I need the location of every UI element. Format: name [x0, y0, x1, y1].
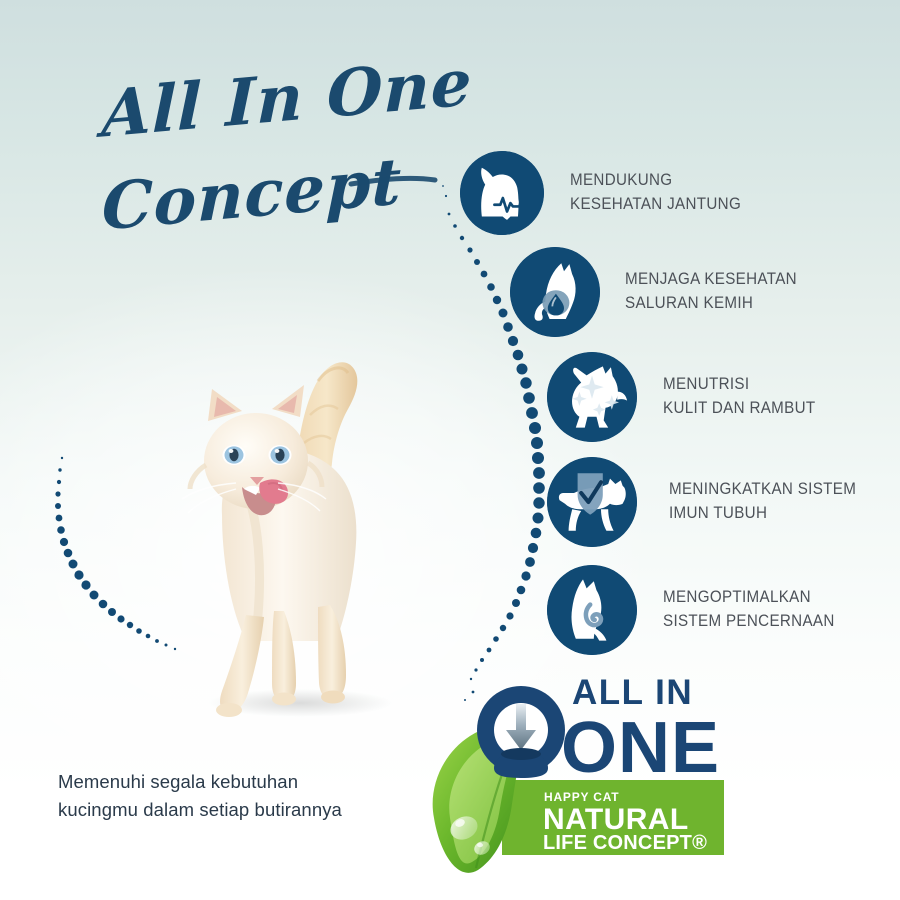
logo-all-in-text: ALL IN: [572, 673, 693, 712]
logo-one-text: ONE: [561, 708, 720, 788]
caption-line-2: kucingmu dalam setiap butirannya: [58, 796, 342, 824]
logo-life-concept-text: LIFE CONCEPT®: [543, 832, 707, 854]
poster-root: All In One Concept MENDUKUNG KESEHATAN J…: [0, 0, 900, 900]
benefit-line-1: MENINGKATKAN SISTEM: [669, 478, 856, 502]
benefit-row-heart-health: MENDUKUNG KESEHATAN JANTUNG: [460, 151, 756, 235]
benefit-row-skin-coat: MENUTRISI KULIT DAN RAMBUT: [547, 352, 829, 442]
cat-sparkles-coat-icon: [547, 352, 637, 442]
caption: Memenuhi segala kebutuhan kucingmu dalam…: [58, 768, 342, 824]
cat-sitting-water-drop-icon: [510, 247, 600, 337]
benefit-line-2: IMUN TUBUH: [669, 502, 856, 526]
cat-heart-ecg-icon: [460, 151, 544, 235]
benefit-line-1: MENUTRISI: [663, 373, 815, 397]
benefit-line-2: SISTEM PENCERNAAN: [663, 610, 835, 634]
benefit-line-1: MENDUKUNG: [570, 169, 741, 193]
cat-digestion-spiral-icon: [547, 565, 637, 655]
benefit-line-1: MENGOPTIMALKAN: [663, 586, 835, 610]
benefit-line-2: SALURAN KEMIH: [625, 292, 797, 316]
benefit-text-urinary-health: MENJAGA KESEHATAN SALURAN KEMIH: [625, 268, 797, 316]
benefit-line-2: KESEHATAN JANTUNG: [570, 193, 741, 217]
benefit-text-heart-health: MENDUKUNG KESEHATAN JANTUNG: [570, 169, 741, 217]
benefit-text-immune-system: MENINGKATKAN SISTEM IMUN TUBUH: [669, 478, 856, 526]
benefit-line-1: MENJAGA KESEHATAN: [625, 268, 797, 292]
logo-happy-cat-text: HAPPY CAT: [544, 790, 619, 804]
caption-line-1: Memenuhi segala kebutuhan: [58, 768, 342, 796]
all-in-one-natural-life-concept-logo: ALL IN ONE HAPPY CAT NATURAL LIFE CONCEP…: [424, 668, 724, 883]
benefit-row-immune-system: MENINGKATKAN SISTEM IMUN TUBUH: [547, 457, 872, 547]
benefit-text-digestion: MENGOPTIMALKAN SISTEM PENCERNAAN: [663, 586, 835, 634]
benefit-row-urinary-health: MENJAGA KESEHATAN SALURAN KEMIH: [510, 247, 812, 337]
benefit-text-skin-coat: MENUTRISI KULIT DAN RAMBUT: [663, 373, 815, 421]
benefit-row-digestion: MENGOPTIMALKAN SISTEM PENCERNAAN: [547, 565, 850, 655]
cat-shield-check-icon: [547, 457, 637, 547]
benefit-line-2: KULIT DAN RAMBUT: [663, 397, 815, 421]
